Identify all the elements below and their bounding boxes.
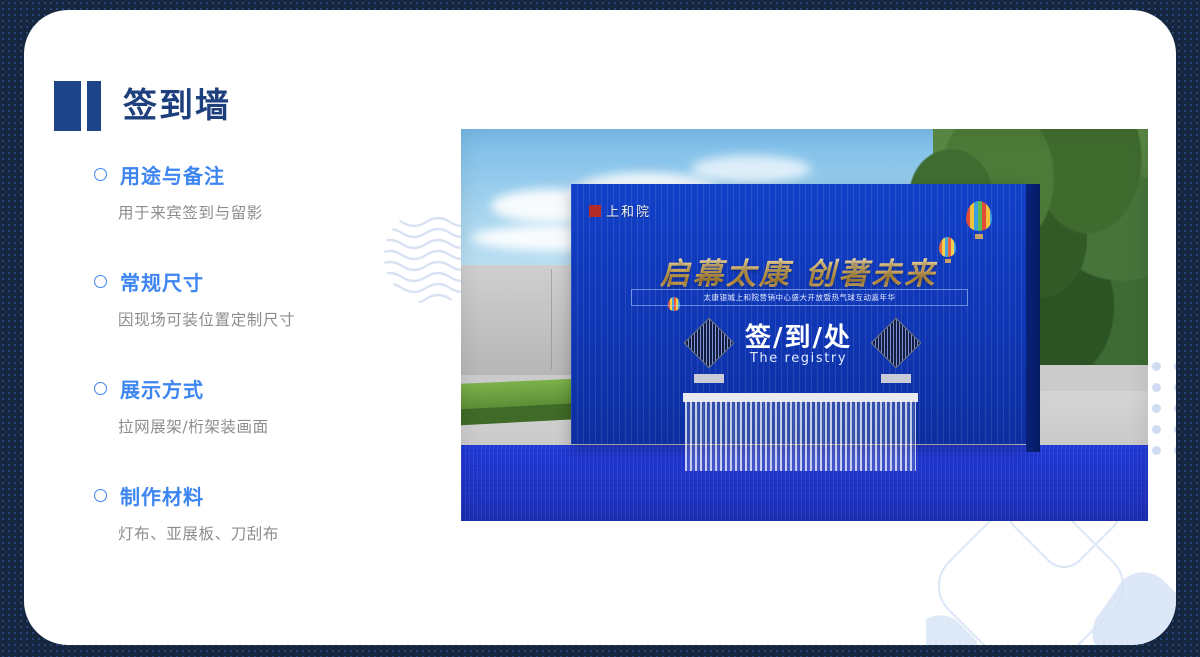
dot — [1174, 362, 1176, 371]
heading-accent-bar-thin — [87, 81, 101, 131]
backdrop-main-title: 启幕太康 创著未来 — [571, 249, 1026, 293]
dot — [1152, 383, 1161, 392]
dot — [1152, 446, 1161, 455]
page-heading: 签到墙 — [54, 58, 231, 154]
qr-cube-prop-left — [689, 325, 729, 383]
spec-label: 用途与备注 — [120, 160, 225, 189]
photo-wall-seam — [551, 269, 552, 369]
qr-cube-icon — [871, 318, 922, 369]
spec-item-size: 常规尺寸 因现场可装位置定制尺寸 — [94, 267, 424, 330]
dot — [1152, 425, 1161, 434]
spec-item-header: 常规尺寸 — [94, 267, 424, 296]
spec-label: 展示方式 — [120, 374, 204, 403]
dot — [1152, 404, 1161, 413]
logo-seal-icon — [589, 205, 601, 217]
dot-grid-icon — [1152, 362, 1176, 467]
spec-item-header: 制作材料 — [94, 481, 424, 510]
spec-item-display: 展示方式 拉网展架/桁架装画面 — [94, 374, 424, 437]
circle-bullet-icon — [94, 168, 107, 181]
backdrop-side-edge — [1026, 184, 1040, 452]
logo-text: 上和院 — [606, 201, 651, 220]
slide-card: 签到墙 用途与备注 用于来宾签到与留影 常规尺寸 因现场可装位置定制尺寸 展示方… — [24, 10, 1176, 645]
dot — [1174, 383, 1176, 392]
signin-wall-photo: 上和院 启幕太康 创著未来 太康银城上和院营销中心盛大开放暨热气球互动嘉年华 签… — [461, 129, 1148, 521]
circle-bullet-icon — [94, 275, 107, 288]
registry-title-cn: 签/到/处 — [571, 317, 1026, 354]
dot — [1174, 446, 1176, 455]
circle-bullet-icon — [94, 382, 107, 395]
spec-item-material: 制作材料 灯布、亚展板、刀刮布 — [94, 481, 424, 544]
registry-title-en: The registry — [571, 351, 1026, 366]
qr-cube-prop-right — [876, 325, 916, 383]
spec-item-header: 用途与备注 — [94, 160, 424, 189]
spec-value: 拉网展架/桁架装画面 — [118, 415, 424, 437]
spec-list: 用途与备注 用于来宾签到与留影 常规尺寸 因现场可装位置定制尺寸 展示方式 拉网… — [94, 160, 424, 588]
page-title: 签到墙 — [123, 81, 231, 131]
spec-value: 用于来宾签到与留影 — [118, 201, 424, 223]
cube-pedestal — [694, 374, 724, 383]
spec-label: 常规尺寸 — [120, 267, 204, 296]
balloon-large-icon — [966, 201, 992, 239]
dot — [1174, 425, 1176, 434]
spec-item-header: 展示方式 — [94, 374, 424, 403]
backdrop-subtitle: 太康银城上和院营销中心盛大开放暨热气球互动嘉年华 — [631, 289, 968, 306]
dot — [1152, 362, 1161, 371]
dot — [1174, 404, 1176, 413]
backdrop-logo: 上和院 — [589, 201, 651, 220]
heading-accent-bar-wide — [54, 81, 81, 131]
circle-bullet-icon — [94, 489, 107, 502]
spec-value: 因现场可装位置定制尺寸 — [118, 308, 424, 330]
spec-item-usage: 用途与备注 用于来宾签到与留影 — [94, 160, 424, 223]
registration-table-skirt — [685, 401, 916, 471]
spec-value: 灯布、亚展板、刀刮布 — [118, 522, 424, 544]
cube-pedestal — [881, 374, 911, 383]
spec-label: 制作材料 — [120, 481, 204, 510]
qr-cube-icon — [684, 318, 735, 369]
